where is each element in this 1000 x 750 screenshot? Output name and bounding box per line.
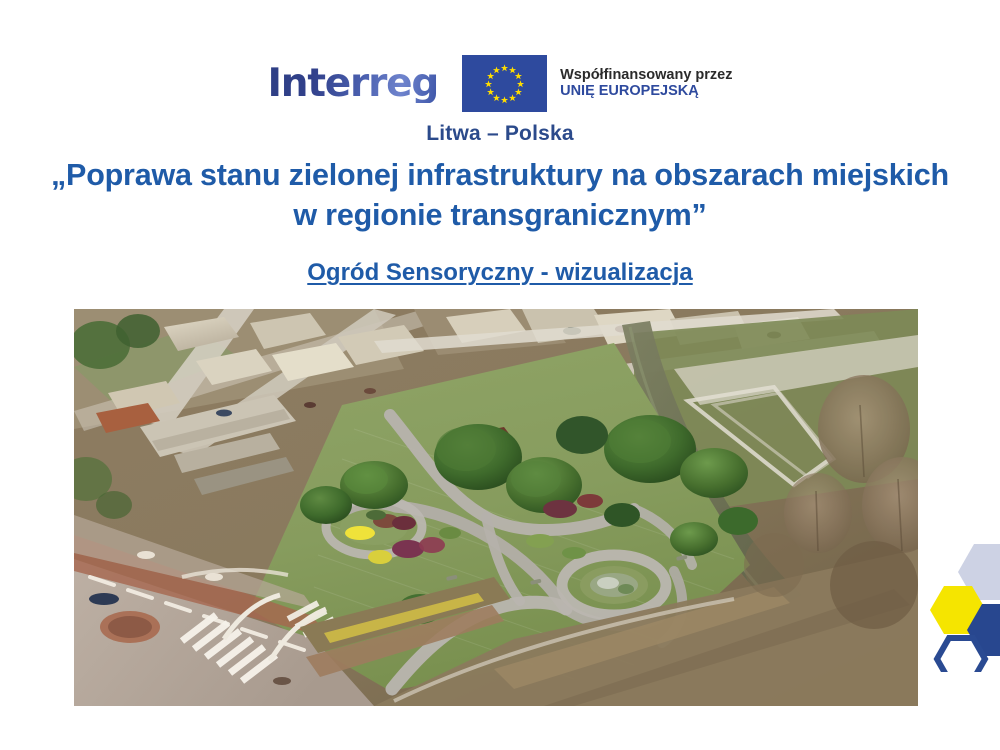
eu-emblem-block: Współfinansowany przez UNIĘ EUROPEJSKĄ xyxy=(462,55,732,112)
eu-flag-icon xyxy=(462,55,547,112)
hexagon-decoration xyxy=(928,542,1000,672)
eu-caption: Współfinansowany przez UNIĘ EUROPEJSKĄ xyxy=(560,67,732,99)
interreg-wordmark: Interreg xyxy=(267,64,438,103)
eu-caption-line-1: Współfinansowany przez xyxy=(560,67,732,83)
logo-band: Interreg xyxy=(0,52,1000,114)
page-title: „Poprawa stanu zielonej infrastruktury n… xyxy=(50,156,950,235)
programme-name: Litwa – Polska xyxy=(0,122,1000,146)
page-subtitle: Ogród Sensoryczny - wizualizacja xyxy=(0,259,1000,287)
hexagon-yellow-icon xyxy=(930,586,986,634)
visualisation-image xyxy=(74,309,918,706)
hexagon-dark-blue-icon xyxy=(967,604,1000,656)
hexagon-light-icon xyxy=(958,544,1000,600)
interreg-logo: Interreg xyxy=(267,54,438,112)
slide-root: Interreg xyxy=(0,0,1000,750)
eu-caption-line-2: UNIĘ EUROPEJSKĄ xyxy=(560,83,732,99)
hexagon-outline-icon xyxy=(937,638,985,672)
page-subtitle-text: Ogród Sensoryczny - wizualizacja xyxy=(307,259,692,286)
